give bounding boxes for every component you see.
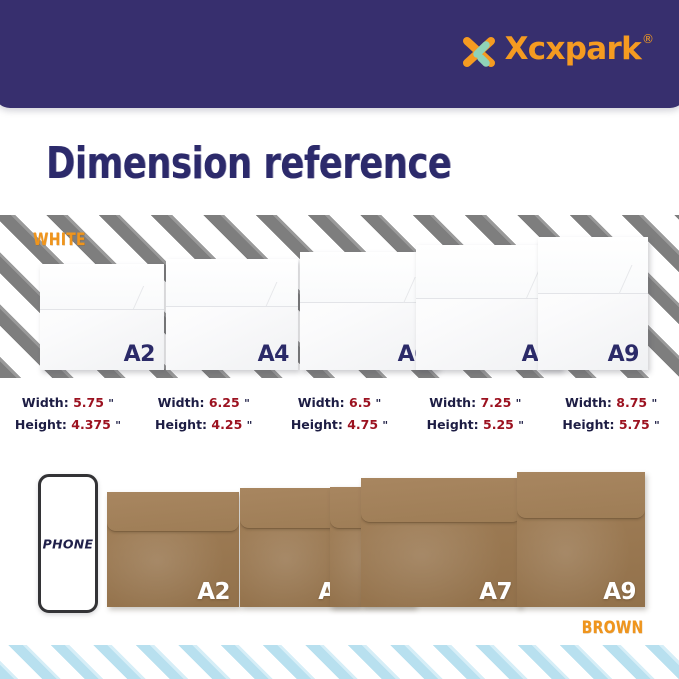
unit-symbol: " [115, 419, 121, 432]
height-label: Height: [155, 417, 207, 432]
brand-name: Xcxpark [505, 32, 641, 66]
brown-section-label: BROWN [581, 618, 643, 638]
height-line: Height: 4.75 " [272, 414, 408, 436]
envelope-size-label: A7 [479, 579, 512, 605]
width-label: Width: [298, 395, 345, 410]
envelope-flap [107, 492, 239, 532]
width-line: Width: 5.75 " [0, 392, 136, 414]
unit-symbol: " [516, 397, 522, 410]
brown-envelope-a7: A7 [361, 478, 521, 607]
dimension-column-a6: Width: 6.5 " Height: 4.75 " [272, 392, 408, 436]
envelope-flap [517, 472, 645, 519]
height-value: 4.25 [211, 417, 242, 432]
height-line: Height: 5.25 " [407, 414, 543, 436]
header-banner: Xcxpark ® [0, 0, 679, 108]
brown-envelope-a9: A9 [517, 472, 645, 607]
envelope-flap [40, 264, 164, 310]
registered-trademark-icon: ® [642, 33, 654, 45]
width-line: Width: 7.25 " [407, 392, 543, 414]
brand-logo: Xcxpark ® [462, 32, 654, 72]
x-mark-icon [462, 35, 496, 69]
envelope-flap [538, 237, 648, 294]
unit-symbol: " [651, 397, 657, 410]
envelope-flap [166, 259, 298, 307]
width-label: Width: [565, 395, 612, 410]
width-label: Width: [22, 395, 69, 410]
height-value: 4.375 [71, 417, 111, 432]
unit-symbol: " [382, 419, 388, 432]
height-label: Height: [427, 417, 479, 432]
dimension-column-a7: Width: 7.25 " Height: 5.25 " [407, 392, 543, 436]
brown-section-stripe-background [0, 645, 679, 679]
envelope-size-label: A9 [603, 579, 636, 605]
width-line: Width: 6.5 " [272, 392, 408, 414]
width-line: Width: 6.25 " [136, 392, 272, 414]
dimension-column-a4: Width: 6.25 " Height: 4.25 " [136, 392, 272, 436]
height-label: Height: [15, 417, 67, 432]
phone-label: PHONE [41, 536, 95, 551]
width-line: Width: 8.75 " [543, 392, 679, 414]
width-value: 5.75 [73, 395, 104, 410]
height-value: 5.75 [619, 417, 650, 432]
white-envelope-a4: A4 [166, 259, 298, 370]
unit-symbol: " [108, 397, 114, 410]
width-label: Width: [429, 395, 476, 410]
brown-envelope-a2: A2 [107, 492, 239, 607]
width-value: 6.5 [349, 395, 371, 410]
page-title: Dimension reference [46, 139, 451, 189]
envelope-size-label: A2 [124, 342, 155, 367]
envelope-size-label: A9 [608, 342, 639, 367]
unit-symbol: " [376, 397, 382, 410]
white-envelope-a2: A2 [40, 264, 164, 370]
height-label: Height: [291, 417, 343, 432]
white-section-label: WHITE [33, 230, 86, 250]
unit-symbol: " [654, 419, 660, 432]
unit-symbol: " [518, 419, 524, 432]
height-value: 5.25 [483, 417, 514, 432]
height-value: 4.75 [347, 417, 378, 432]
envelope-flap [361, 478, 521, 523]
width-value: 8.75 [616, 395, 647, 410]
width-value: 7.25 [480, 395, 511, 410]
height-line: Height: 4.375 " [0, 414, 136, 436]
width-label: Width: [158, 395, 205, 410]
dimension-column-a2: Width: 5.75 " Height: 4.375 " [0, 392, 136, 436]
unit-symbol: " [244, 397, 250, 410]
height-line: Height: 5.75 " [543, 414, 679, 436]
height-label: Height: [562, 417, 614, 432]
phone-scale-reference: PHONE [38, 474, 98, 613]
height-line: Height: 4.25 " [136, 414, 272, 436]
white-envelope-a9: A9 [538, 237, 648, 370]
envelope-size-label: A2 [197, 579, 230, 605]
unit-symbol: " [247, 419, 253, 432]
envelope-size-label: A4 [258, 342, 289, 367]
dimension-table: Width: 5.75 " Height: 4.375 " Width: 6.2… [0, 392, 679, 436]
dimension-column-a9: Width: 8.75 " Height: 5.75 " [543, 392, 679, 436]
width-value: 6.25 [209, 395, 240, 410]
